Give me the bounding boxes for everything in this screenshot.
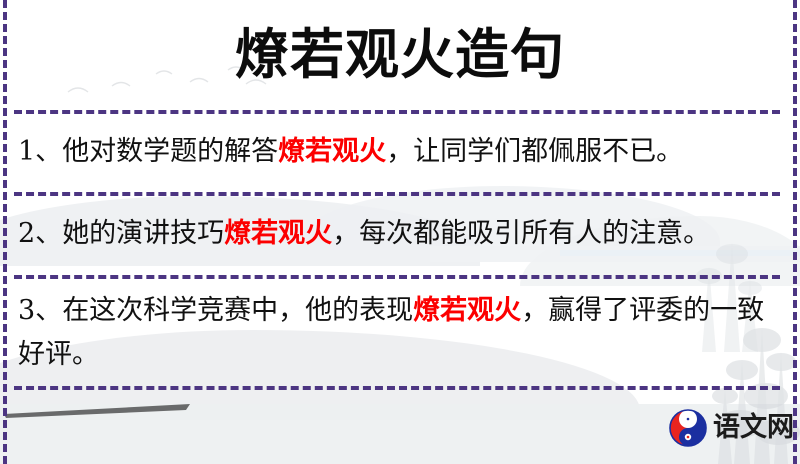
site-logo[interactable]: 语文网 — [668, 408, 794, 448]
sentence-text-after-1: ，让同学们都佩服不已。 — [386, 136, 683, 167]
sentence-number-1: 1、 — [18, 136, 62, 167]
page-title: 燎若观火造句 — [0, 18, 800, 90]
idiom-highlight-3: 燎若观火 — [413, 295, 521, 326]
divider-1 — [14, 110, 780, 114]
idiom-highlight-1: 燎若观火 — [278, 136, 386, 167]
sentence-number-3: 3、 — [18, 295, 62, 326]
yinyang-fish-logo-icon — [668, 408, 708, 448]
sentence-text-after-2: ，每次都能吸引所有人的注意。 — [332, 218, 710, 249]
sentence-item-2: 2、她的演讲技巧燎若观火，每次都能吸引所有人的注意。 — [18, 212, 774, 256]
sentence-text-before-3: 在这次科学竞赛中，他的表现 — [62, 295, 413, 326]
divider-3 — [14, 275, 780, 279]
divider-2 — [14, 192, 780, 196]
sentence-item-3: 3、在这次科学竞赛中，他的表现燎若观火，赢得了评委的一致好评。 — [18, 289, 774, 377]
sentence-number-2: 2、 — [18, 218, 62, 249]
site-logo-text: 语文网 — [713, 413, 794, 443]
poster-page: 燎若观火造句 1、他对数学题的解答燎若观火，让同学们都佩服不已。 2、她的演讲技… — [0, 0, 800, 464]
sentence-text-before-2: 她的演讲技巧 — [62, 218, 224, 249]
poster-content: 燎若观火造句 1、他对数学题的解答燎若观火，让同学们都佩服不已。 2、她的演讲技… — [0, 0, 800, 464]
sentence-text-before-1: 他对数学题的解答 — [62, 136, 278, 167]
divider-4 — [14, 386, 780, 390]
sentence-item-1: 1、他对数学题的解答燎若观火，让同学们都佩服不已。 — [18, 130, 774, 174]
idiom-highlight-2: 燎若观火 — [224, 218, 332, 249]
